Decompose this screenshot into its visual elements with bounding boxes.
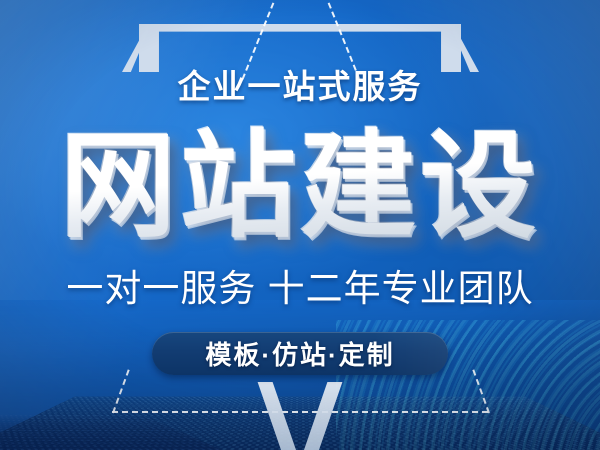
- content-stage: 企业一站式服务 网站建设 一对一服务 十二年专业团队 模板·仿站·定制: [0, 0, 600, 450]
- subheadline-text: 一对一服务 十二年专业团队: [0, 266, 600, 312]
- headline-title: 网站建设: [0, 118, 600, 255]
- service-badge[interactable]: 模板·仿站·定制: [152, 332, 448, 375]
- promo-banner: 企业一站式服务 网站建设 一对一服务 十二年专业团队 模板·仿站·定制: [0, 0, 600, 450]
- kicker-text: 企业一站式服务: [0, 66, 600, 107]
- service-badge-label: 模板·仿站·定制: [205, 335, 394, 372]
